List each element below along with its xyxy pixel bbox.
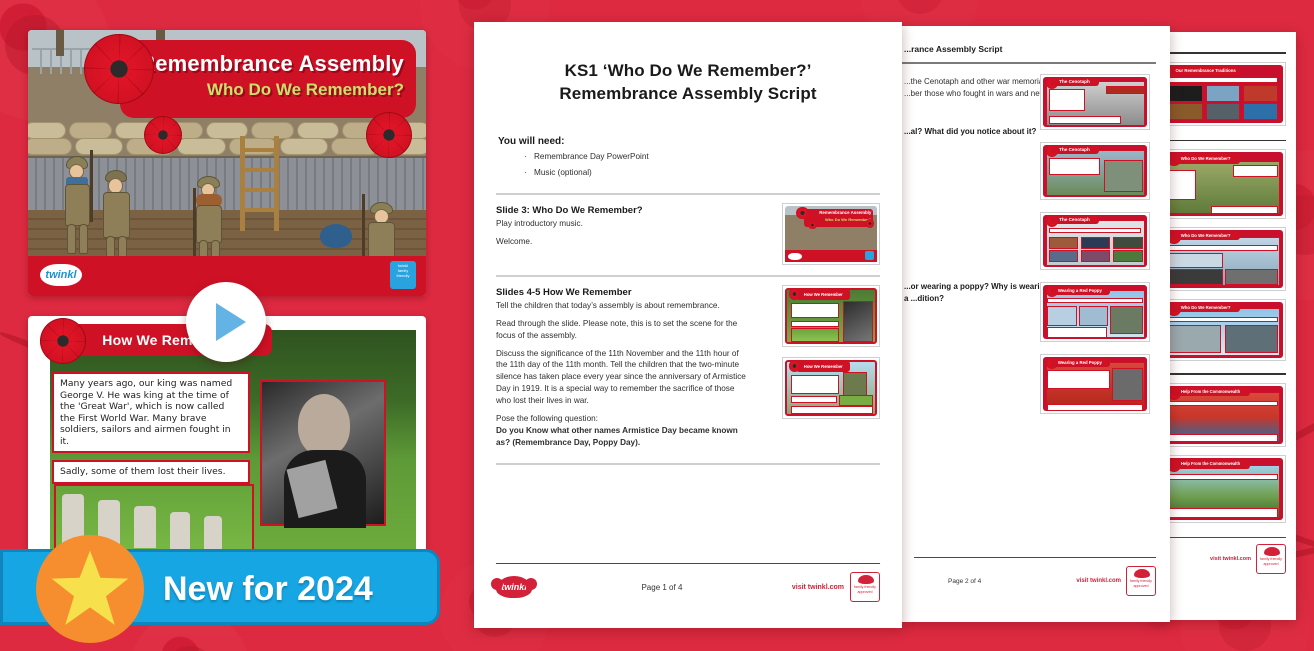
thumbnail-title: Help From the Commonwealth [1171,459,1250,469]
thumbnail-title: Who Do We Remember? [1171,303,1240,312]
page2-paragraph: ...or wearing a poppy? Why is wearing a … [904,281,1054,306]
thumbnail-title: Who Do We Remember? [1171,153,1240,163]
poppy-icon [84,34,154,104]
king-george-v-photo [260,380,386,526]
screenshot-root: Remembrance Assembly Who Do We Remember?… [0,0,1314,651]
twinkl-approved-badge: twinklfamilyfriendly [390,261,416,289]
slide2-caption-text: Sadly, some of them lost their lives. [52,460,250,484]
section-paragraph: Play introductory music. [496,218,746,230]
section-heading: Slides 4-5 How We Remember [496,287,746,298]
document-page-2[interactable]: ...rance Assembly Script ...the Cenotaph… [900,26,1170,622]
page2-paragraph: ...the Cenotaph and other war memorials … [904,76,1054,101]
section-paragraph: Tell the children that today’s assembly … [496,300,746,312]
slide-thumbnail: Remembrance Assembly Who Do We Remember? [782,203,880,265]
star-badge [36,535,144,643]
slide-thumbnail: The Cenotaph [1040,74,1150,130]
poppy-icon [789,288,801,300]
thumbnail-title: Remembrance Assembly [806,210,871,215]
slide-thumbnail: Who Do We Remember? [1160,299,1286,361]
need-item: ·Remembrance Day PowerPoint [524,152,872,161]
section-paragraph: Pose the following question: [496,413,746,425]
page-number: Page 2 of 4 [948,578,981,585]
slide-thumbnail: How We Remember [782,357,880,419]
poppy-icon [366,112,412,158]
thumbnail-title: The Cenotaph [1050,146,1100,154]
document-title-line-2: Remembrance Assembly Script [504,83,872,106]
slide2-body-text: Many years ago, our king was named Georg… [52,372,250,453]
twinkl-approved-stamp: family friendly approved [1256,544,1286,574]
need-item: ·Music (optional) [524,168,872,177]
visit-link[interactable]: visit twinkl.com [1210,556,1251,562]
new-for-2024-label: New for 2024 [163,570,373,609]
slide-thumbnail: Our Remembrance Traditions [1160,62,1286,126]
slide-preview-1[interactable]: Remembrance Assembly Who Do We Remember?… [28,30,426,296]
poppy-icon [808,221,817,230]
thumbnail-title: How We Remember [796,361,850,371]
section-bold-paragraph: Do you Know what other names Armistice D… [496,425,746,449]
visit-link[interactable]: visit twinkl.com [1076,578,1121,584]
page-number: Page 1 of 4 [641,583,682,592]
thumbnail-title: Wearing a Red Poppy [1050,286,1110,295]
slide-thumbnail: Wearing a Red Poppy [1040,282,1150,342]
slide-thumbnail: The Cenotaph [1040,142,1150,200]
thumbnail-title: Our Remembrance Traditions [1171,66,1240,75]
play-icon [216,303,246,341]
slide1-title: Remembrance Assembly [120,51,404,77]
poppy-icon [40,318,86,364]
you-will-need-heading: You will need: [498,136,872,147]
document-page-3[interactable]: Our Remembrance Traditions Who Do We Rem… [1150,32,1296,620]
thumbnail-title: How We Remember [796,289,850,299]
slide1-title-banner: Remembrance Assembly Who Do We Remember? [120,40,416,118]
section-paragraph: Read through the slide. Please note, thi… [496,318,746,342]
twinkl-logo: twinkl [40,264,82,286]
slide-thumbnail: Who Do We Remember? [1160,227,1286,291]
twinkl-approved-stamp: family friendly approved [1126,566,1156,596]
slide1-subtitle: Who Do We Remember? [120,80,404,100]
section-heading: Slide 3: Who Do We Remember? [496,205,746,216]
page2-header-title: ...rance Assembly Script [900,44,1156,54]
document-title-line-1: KS1 ‘Who Do We Remember?’ [504,60,872,83]
slide-thumbnail: Help From the Commonwealth [1160,383,1286,447]
document-page-1[interactable]: KS1 ‘Who Do We Remember?’ Remembrance As… [474,22,902,628]
thumbnail-title: Who Do We Remember? [1171,231,1240,240]
thumbnail-title: The Cenotaph [1050,78,1100,86]
poppy-icon [789,360,801,372]
slide-thumbnail: The Cenotaph [1040,212,1150,270]
slide-thumbnail: Help From the Commonwealth [1160,455,1286,523]
twinkl-approved-stamp: family friendly approved [850,572,880,602]
slide-thumbnail: Who Do We Remember? [1160,149,1286,219]
page2-paragraph: ...al? What did you notice about it? [904,126,1054,138]
section-paragraph: Discuss the significance of the 11th Nov… [496,348,746,407]
section-paragraph: Welcome. [496,236,746,248]
star-icon [50,549,130,629]
twinkl-logo: twinkl [496,576,532,598]
play-button[interactable] [186,282,266,362]
thumbnail-title: Wearing a Red Poppy [1050,358,1110,367]
slide-thumbnail: Wearing a Red Poppy [1040,354,1150,414]
poppy-icon [144,116,182,154]
thumbnail-title: Help From the Commonwealth [1171,387,1250,396]
slide-thumbnail: How We Remember [782,285,880,347]
visit-link[interactable]: visit twinkl.com [792,584,844,591]
thumbnail-title: The Cenotaph [1050,216,1100,224]
